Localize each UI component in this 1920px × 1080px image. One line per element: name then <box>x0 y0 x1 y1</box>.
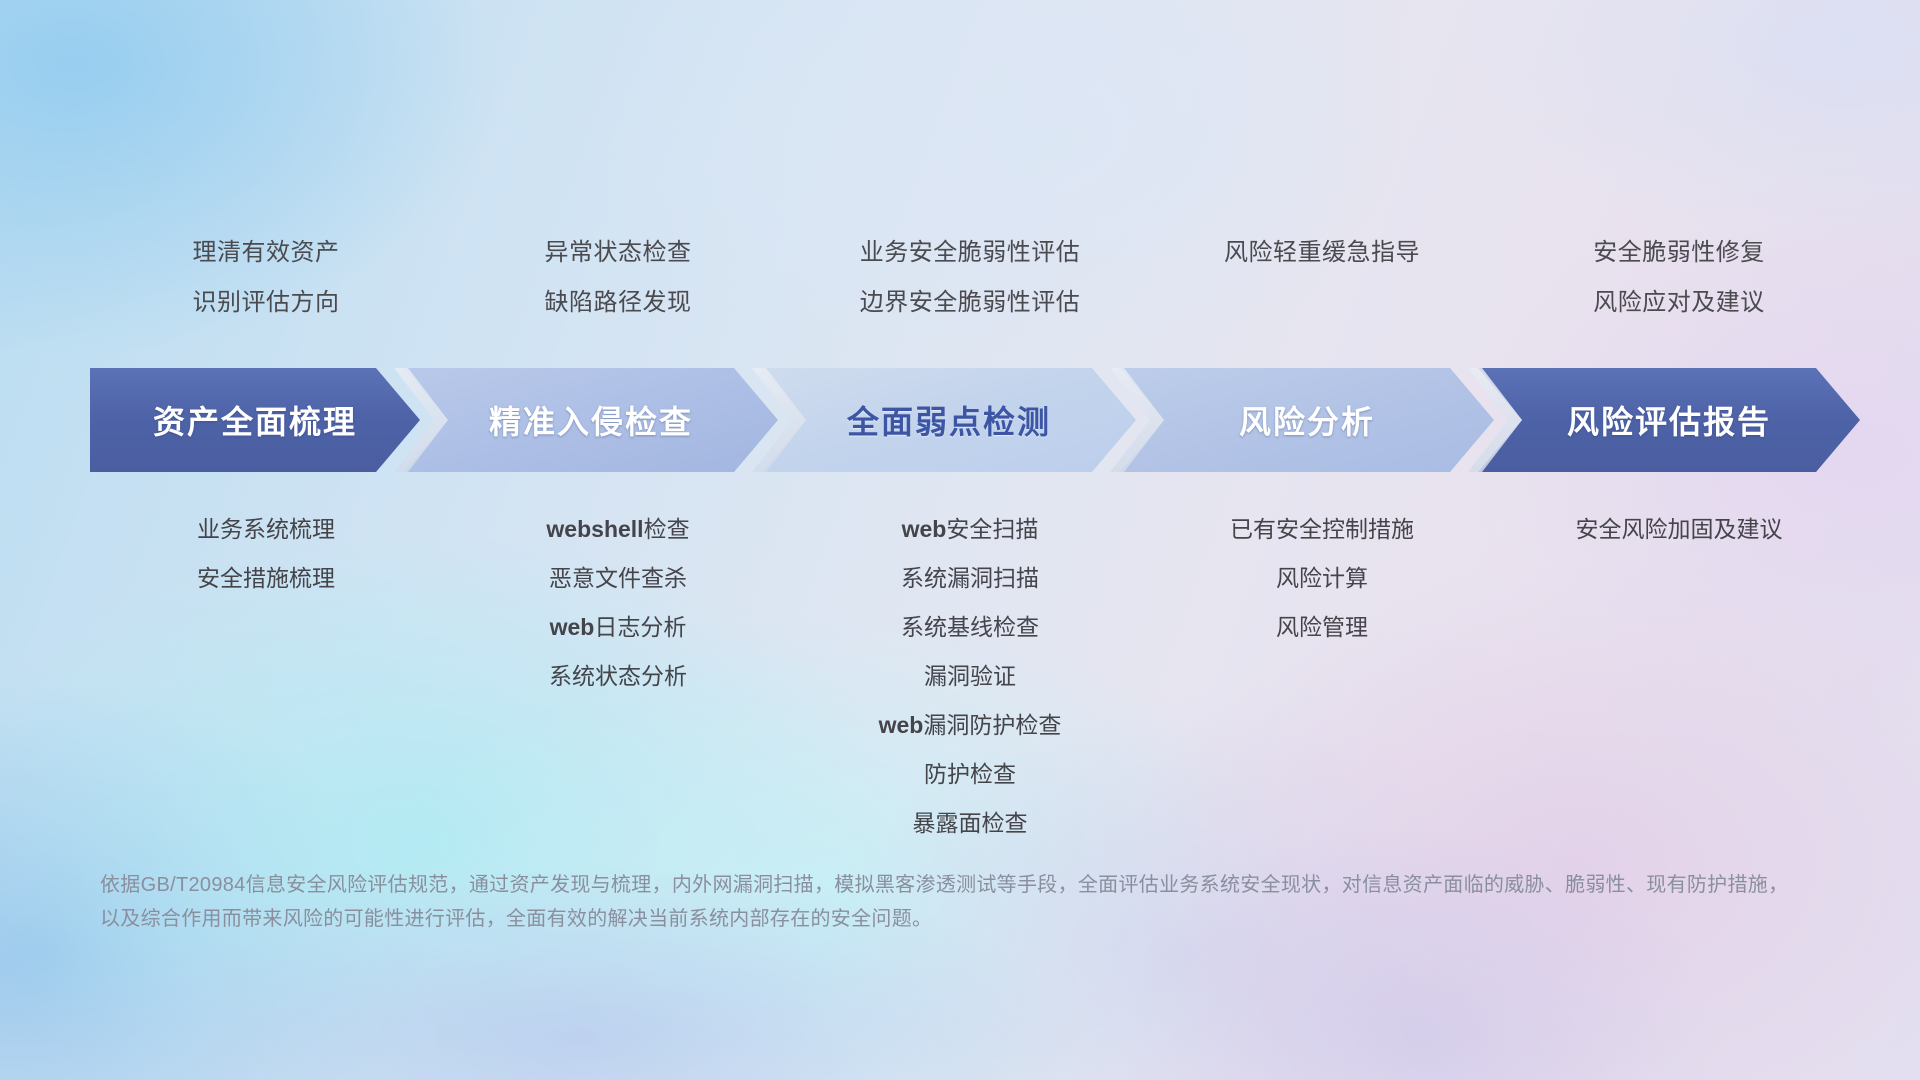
top-descriptors-stage-2: 异常状态检查 缺陷路径发现 <box>442 228 794 328</box>
detail-list-stage-2: webshell检查 恶意文件查杀 web日志分析 系统状态分析 <box>442 505 794 701</box>
top-descriptor-line: 识别评估方向 <box>90 278 442 328</box>
top-descriptor-line: 安全脆弱性修复 <box>1498 228 1860 278</box>
latin-emphasis: web <box>550 614 595 640</box>
top-descriptor-row: 理清有效资产 识别评估方向 异常状态检查 缺陷路径发现 业务安全脆弱性评估 边界… <box>90 228 1860 328</box>
list-item: 漏洞验证 <box>794 652 1146 701</box>
top-descriptors-stage-1: 理清有效资产 识别评估方向 <box>90 228 442 328</box>
stage-arrow-5[interactable]: 风险评估报告 <box>1478 368 1860 472</box>
stage-title-2: 精准入侵检查 <box>489 397 693 443</box>
list-item: webshell检查 <box>442 505 794 554</box>
stage-title-3: 全面弱点检测 <box>847 397 1051 443</box>
stage-title-1: 资产全面梳理 <box>153 397 357 443</box>
detail-list-stage-5: 安全风险加固及建议 <box>1498 505 1860 554</box>
stage-arrow-3[interactable]: 全面弱点检测 <box>762 368 1136 472</box>
list-item: 风险计算 <box>1146 554 1498 603</box>
stage-title-4: 风险分析 <box>1239 397 1375 443</box>
list-item: 风险管理 <box>1146 603 1498 652</box>
top-descriptors-stage-4: 风险轻重缓急指导 <box>1146 228 1498 328</box>
top-descriptor-line: 风险轻重缓急指导 <box>1146 228 1498 278</box>
list-item: 恶意文件查杀 <box>442 554 794 603</box>
stage-arrow-2[interactable]: 精准入侵检查 <box>404 368 778 472</box>
detail-list-stage-4: 已有安全控制措施 风险计算 风险管理 <box>1146 505 1498 652</box>
detail-list-stage-3: web安全扫描 系统漏洞扫描 系统基线检查 漏洞验证 web漏洞防护检查 防护检… <box>794 505 1146 848</box>
list-item: web漏洞防护检查 <box>794 701 1146 750</box>
top-descriptor-line: 业务安全脆弱性评估 <box>794 228 1146 278</box>
list-item: 防护检查 <box>794 750 1146 799</box>
list-item: web日志分析 <box>442 603 794 652</box>
process-diagram: 理清有效资产 识别评估方向 异常状态检查 缺陷路径发现 业务安全脆弱性评估 边界… <box>0 0 1920 1080</box>
latin-emphasis: web <box>902 516 947 542</box>
stage-title-5: 风险评估报告 <box>1567 397 1771 443</box>
list-item: 系统基线检查 <box>794 603 1146 652</box>
footer-note: 依据GB/T20984信息安全风险评估规范，通过资产发现与梳理，内外网漏洞扫描，… <box>100 868 1800 936</box>
top-descriptor-line: 边界安全脆弱性评估 <box>794 278 1146 328</box>
stage-arrow-4[interactable]: 风险分析 <box>1120 368 1494 472</box>
stage-arrow-1[interactable]: 资产全面梳理 <box>90 368 420 472</box>
detail-list-stage-1: 业务系统梳理 安全措施梳理 <box>90 505 442 603</box>
bottom-detail-row: 业务系统梳理 安全措施梳理 webshell检查 恶意文件查杀 web日志分析 … <box>90 505 1860 848</box>
latin-emphasis: webshell <box>546 516 643 542</box>
top-descriptor-line: 缺陷路径发现 <box>442 278 794 328</box>
list-item: 业务系统梳理 <box>90 505 442 554</box>
list-item: 暴露面检查 <box>794 799 1146 848</box>
list-item: 安全措施梳理 <box>90 554 442 603</box>
list-item: 已有安全控制措施 <box>1146 505 1498 554</box>
list-item: 安全风险加固及建议 <box>1498 505 1860 554</box>
footer-paragraph: 依据GB/T20984信息安全风险评估规范，通过资产发现与梳理，内外网漏洞扫描，… <box>100 868 1800 936</box>
top-descriptors-stage-5: 安全脆弱性修复 风险应对及建议 <box>1498 228 1860 328</box>
top-descriptor-line: 理清有效资产 <box>90 228 442 278</box>
stage-arrow-band: 资产全面梳理 精准入侵检查 全面弱点检测 风险分析 风险评估报告 <box>90 368 1860 472</box>
list-item: 系统漏洞扫描 <box>794 554 1146 603</box>
top-descriptors-stage-3: 业务安全脆弱性评估 边界安全脆弱性评估 <box>794 228 1146 328</box>
top-descriptor-line: 异常状态检查 <box>442 228 794 278</box>
latin-emphasis: web <box>879 712 924 738</box>
list-item: web安全扫描 <box>794 505 1146 554</box>
top-descriptor-line: 风险应对及建议 <box>1498 278 1860 328</box>
list-item: 系统状态分析 <box>442 652 794 701</box>
